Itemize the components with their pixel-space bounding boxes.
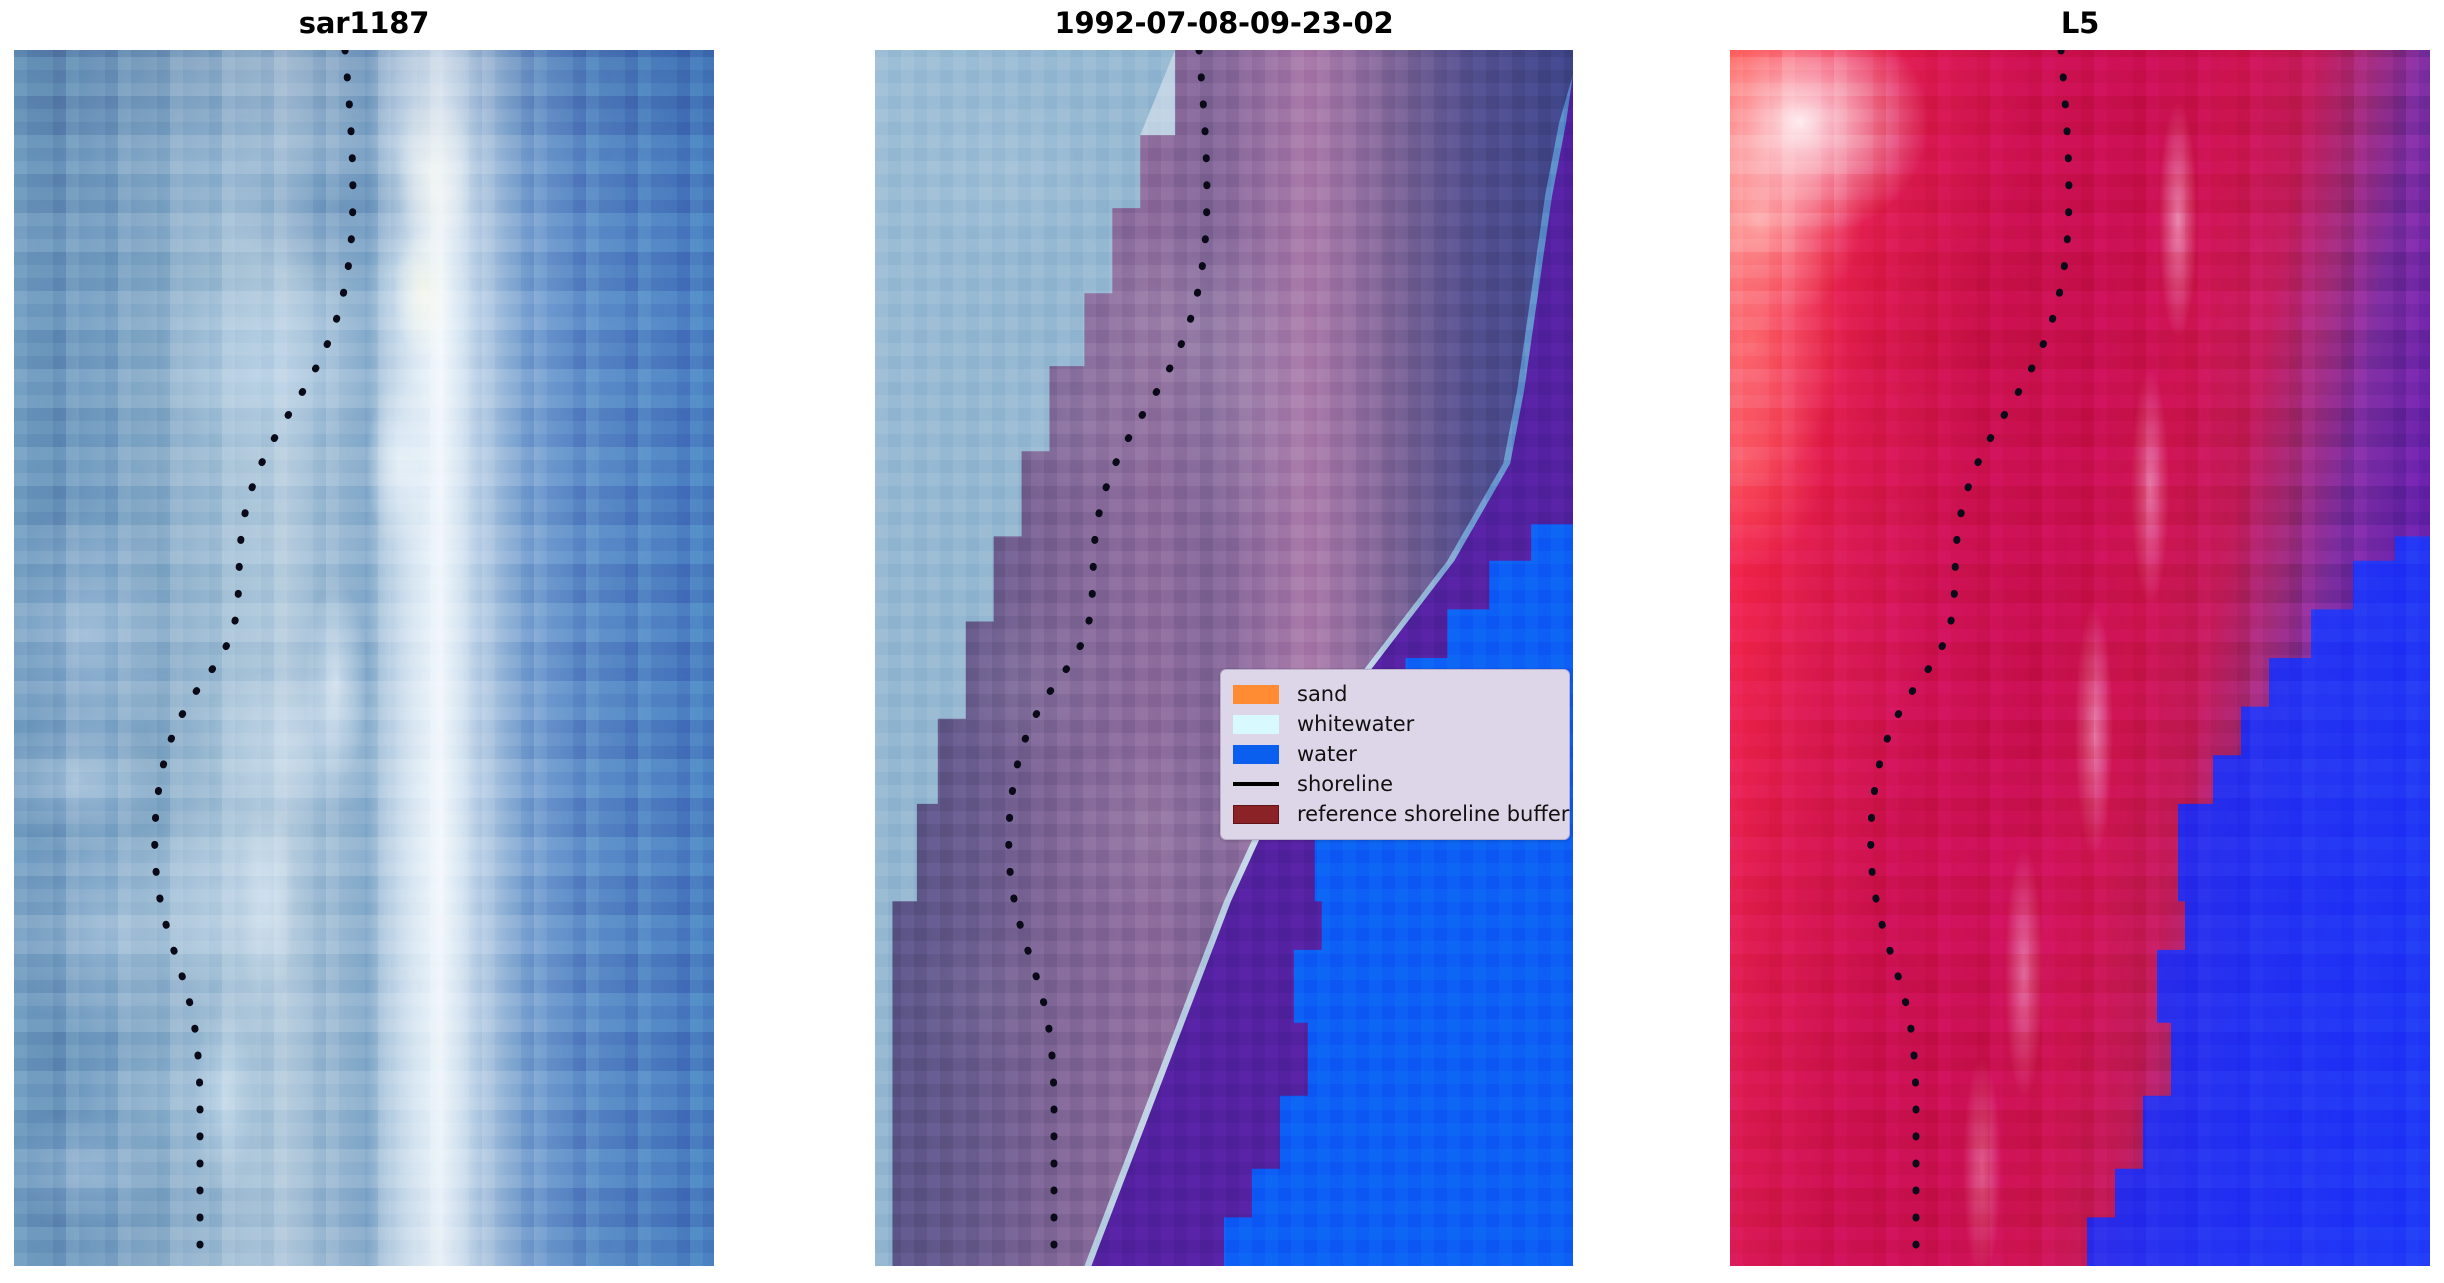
legend-label-reference-shoreline-buffer: reference shoreline buffer: [1297, 804, 1569, 825]
sar-raster: [14, 50, 714, 1266]
sar-pixel-grid-coarse: [14, 50, 714, 1266]
panel-classified-image[interactable]: [875, 50, 1573, 1266]
panel-title-sar: sar1187: [14, 6, 714, 40]
legend-item-reference-shoreline-buffer[interactable]: reference shoreline buffer: [1233, 799, 1555, 829]
legend-item-water[interactable]: water: [1233, 739, 1555, 769]
legend-item-whitewater[interactable]: whitewater: [1233, 709, 1555, 739]
legend-label-shoreline: shoreline: [1297, 774, 1393, 795]
legend-label-water: water: [1297, 744, 1357, 765]
figure-canvas: sar1187 1992-07-08-09-23-02 L5: [0, 0, 2444, 1283]
l5-raster: [1730, 50, 2430, 1266]
classified-pixel-grid: [875, 50, 1573, 1266]
shoreline-line-swatch: [1233, 782, 1279, 786]
panel-title-classified: 1992-07-08-09-23-02: [875, 6, 1573, 40]
legend-item-shoreline[interactable]: shoreline: [1233, 769, 1555, 799]
classified-raster: [875, 50, 1573, 1266]
panel-sar-image[interactable]: [14, 50, 714, 1266]
legend-box[interactable]: sand whitewater water shoreline referenc…: [1220, 669, 1570, 840]
legend-label-whitewater: whitewater: [1297, 714, 1414, 735]
sand-color-swatch: [1233, 685, 1279, 704]
panel-l5-image[interactable]: [1730, 50, 2430, 1266]
panel-title-l5: L5: [1730, 6, 2430, 40]
l5-pixel-grid-coarse: [1730, 50, 2430, 1266]
reference-shoreline-buffer-color-swatch: [1233, 805, 1279, 824]
legend-item-sand[interactable]: sand: [1233, 679, 1555, 709]
legend-label-sand: sand: [1297, 684, 1347, 705]
water-color-swatch: [1233, 745, 1279, 764]
whitewater-color-swatch: [1233, 715, 1279, 734]
